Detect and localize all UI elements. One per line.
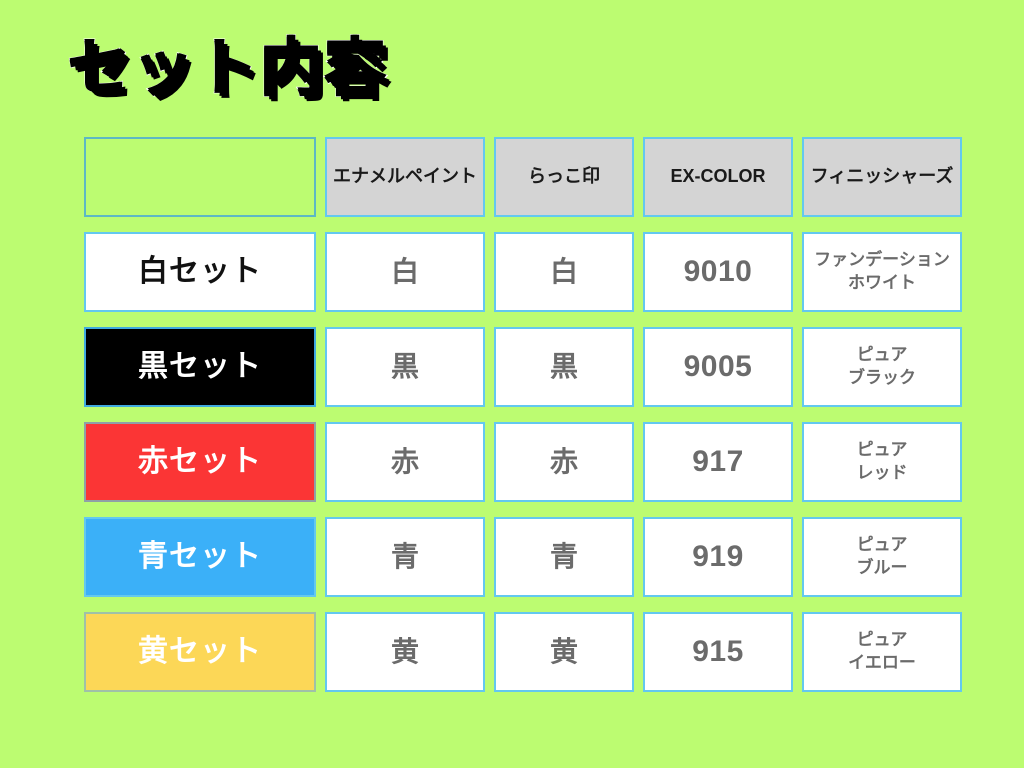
- cell-enamel: 青: [325, 517, 485, 597]
- cell-excolor: 915: [643, 612, 793, 692]
- table-header-rakko: らっこ印: [494, 137, 634, 217]
- cell-finishers: ピュア ブルー: [802, 517, 962, 597]
- cell-finishers: ファンデーション ホワイト: [802, 232, 962, 312]
- cell-enamel: 黒: [325, 327, 485, 407]
- page-title-wrapper: セット内容: [68, 26, 388, 112]
- cell-finishers: ピュア レッド: [802, 422, 962, 502]
- table-header-finishers: フィニッシャーズ: [802, 137, 962, 217]
- cell-excolor: 9005: [643, 327, 793, 407]
- cell-finishers: ピュア イエロー: [802, 612, 962, 692]
- table-header-enamel: エナメルペイント: [325, 137, 485, 217]
- table-row: 黄セット: [84, 612, 316, 692]
- cell-excolor: 9010: [643, 232, 793, 312]
- cell-excolor: 919: [643, 517, 793, 597]
- table-row: 赤セット: [84, 422, 316, 502]
- set-contents-table: エナメルペイント らっこ印 EX-COLOR フィニッシャーズ 白セット 白 白…: [84, 137, 974, 692]
- page-title: セット内容: [68, 38, 388, 100]
- cell-rakko: 黄: [494, 612, 634, 692]
- cell-rakko: 白: [494, 232, 634, 312]
- cell-excolor: 917: [643, 422, 793, 502]
- cell-rakko: 赤: [494, 422, 634, 502]
- table-header-excolor: EX-COLOR: [643, 137, 793, 217]
- table-row: 黒セット: [84, 327, 316, 407]
- cell-rakko: 黒: [494, 327, 634, 407]
- cell-enamel: 黄: [325, 612, 485, 692]
- table-row: 白セット: [84, 232, 316, 312]
- table-row: 青セット: [84, 517, 316, 597]
- cell-finishers: ピュア ブラック: [802, 327, 962, 407]
- table-header-blank: [84, 137, 316, 217]
- cell-enamel: 赤: [325, 422, 485, 502]
- cell-enamel: 白: [325, 232, 485, 312]
- cell-rakko: 青: [494, 517, 634, 597]
